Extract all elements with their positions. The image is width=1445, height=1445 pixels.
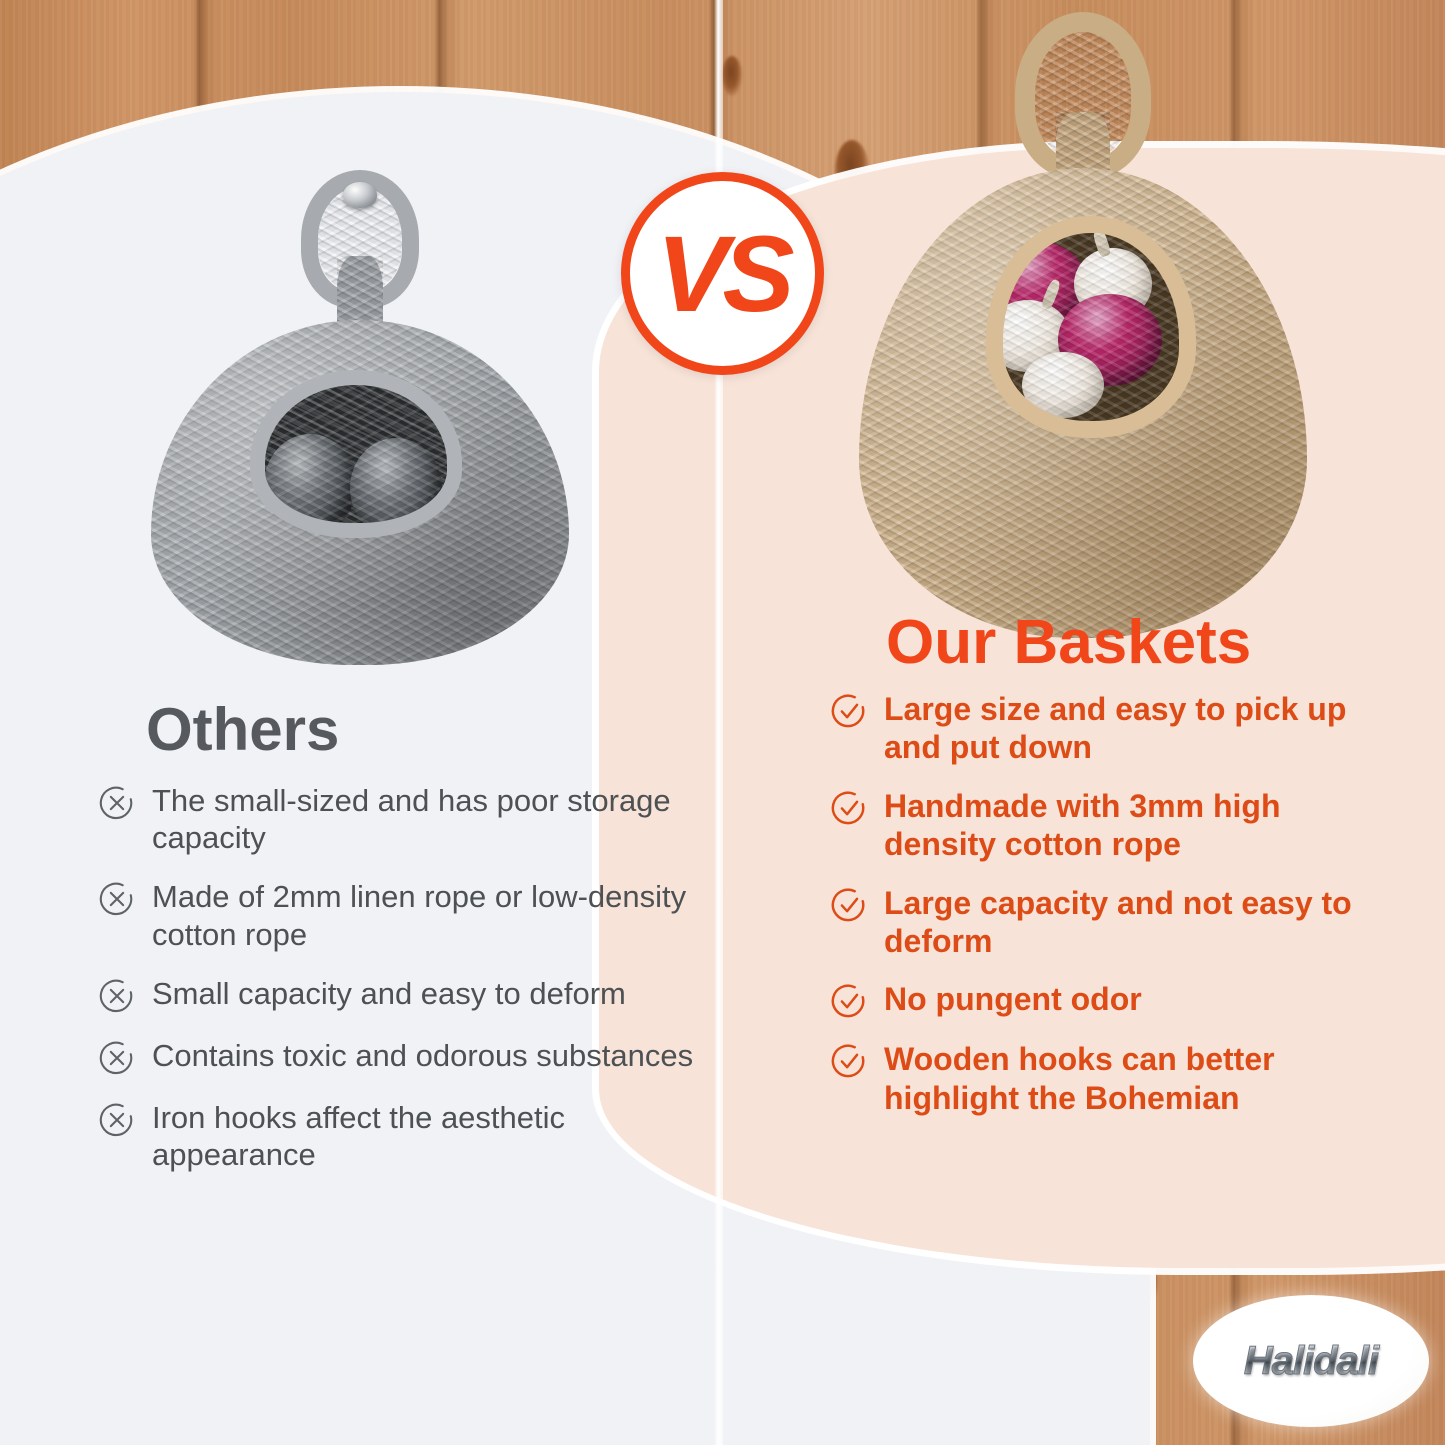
- check-circle-icon: [830, 1042, 868, 1080]
- check-circle-icon: [830, 692, 868, 730]
- list-item: Handmade with 3mm high density cotton ro…: [830, 787, 1390, 864]
- list-item-text: Contains toxic and odorous substances: [152, 1037, 693, 1074]
- list-item-text: Iron hooks affect the aesthetic appearan…: [152, 1099, 698, 1173]
- list-item: Small capacity and easy to deform: [98, 975, 698, 1015]
- ours-column: Our Baskets Large size and easy to pick …: [830, 612, 1390, 1137]
- brand-logo: Halidali: [1193, 1295, 1429, 1427]
- competitor-basket-image: [150, 160, 570, 660]
- list-item: Contains toxic and odorous substances: [98, 1037, 698, 1077]
- vs-label: VS: [656, 220, 788, 328]
- cross-circle-icon: [98, 1039, 136, 1077]
- list-item-text: Large size and easy to pick up and put d…: [884, 690, 1390, 767]
- list-item: Made of 2mm linen rope or low-density co…: [98, 878, 698, 952]
- list-item: Large size and easy to pick up and put d…: [830, 690, 1390, 767]
- cross-circle-icon: [98, 880, 136, 918]
- list-item: The small-sized and has poor storage cap…: [98, 782, 698, 856]
- our-basket-image: [858, 8, 1308, 638]
- cross-circle-icon: [98, 977, 136, 1015]
- others-feature-list: The small-sized and has poor storage cap…: [98, 782, 698, 1173]
- others-column: Others The small-sized and has poor stor…: [98, 700, 698, 1195]
- list-item: Wooden hooks can better highlight the Bo…: [830, 1040, 1390, 1117]
- check-circle-icon: [830, 982, 868, 1020]
- list-item-text: Made of 2mm linen rope or low-density co…: [152, 878, 698, 952]
- iron-hook-icon: [343, 182, 377, 208]
- cross-circle-icon: [98, 1101, 136, 1139]
- ours-heading: Our Baskets: [830, 612, 1390, 674]
- list-item-text: No pungent odor: [884, 980, 1142, 1018]
- vs-badge: VS: [621, 172, 824, 375]
- list-item-text: The small-sized and has poor storage cap…: [152, 782, 698, 856]
- list-item-text: Handmade with 3mm high density cotton ro…: [884, 787, 1390, 864]
- brand-logo-text: Halidali: [1244, 1339, 1378, 1384]
- ours-feature-list: Large size and easy to pick up and put d…: [830, 690, 1390, 1117]
- check-circle-icon: [830, 789, 868, 827]
- list-item-text: Large capacity and not easy to deform: [884, 884, 1390, 961]
- list-item: Iron hooks affect the aesthetic appearan…: [98, 1099, 698, 1173]
- check-circle-icon: [830, 886, 868, 924]
- list-item-text: Small capacity and easy to deform: [152, 975, 626, 1012]
- list-item: Large capacity and not easy to deform: [830, 884, 1390, 961]
- list-item: No pungent odor: [830, 980, 1390, 1020]
- others-heading: Others: [98, 700, 698, 760]
- list-item-text: Wooden hooks can better highlight the Bo…: [884, 1040, 1390, 1117]
- cross-circle-icon: [98, 784, 136, 822]
- infographic-canvas: VS Others The small-sized and has poor s…: [0, 0, 1445, 1445]
